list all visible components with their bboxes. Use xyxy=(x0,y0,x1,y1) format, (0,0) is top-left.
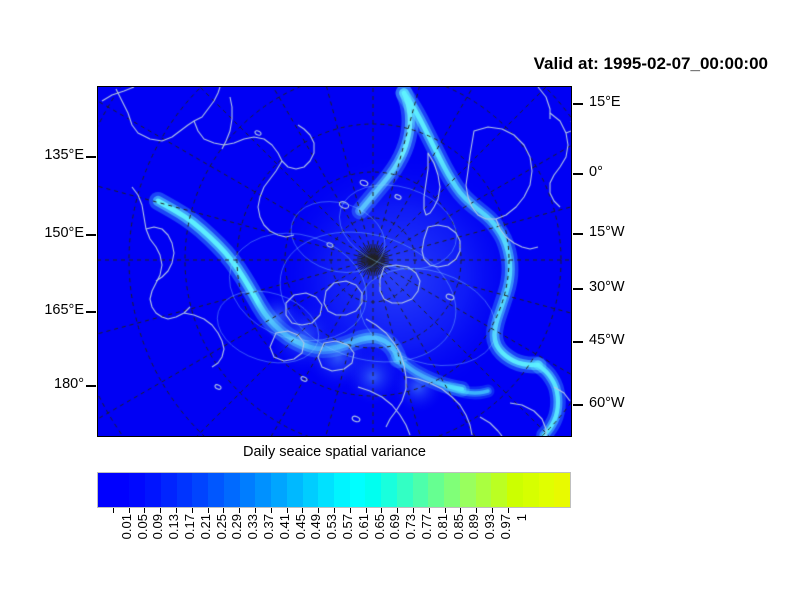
colorbar-swatch xyxy=(98,473,114,507)
colorbar-swatch xyxy=(539,473,555,507)
colorbar-swatch xyxy=(192,473,208,507)
axis-left-label: 150°E xyxy=(44,225,84,241)
colorbar-swatch xyxy=(303,473,319,507)
colorbar-swatch xyxy=(208,473,224,507)
colorbar-tick xyxy=(318,508,319,513)
colorbar-tick xyxy=(492,508,493,513)
colorbar-swatch xyxy=(554,473,570,507)
seaice-variance-map xyxy=(98,87,571,436)
colorbar-swatch xyxy=(145,473,161,507)
colorbar-tick-label: 0.37 xyxy=(261,514,276,539)
colorbar-tick-label: 0.25 xyxy=(214,514,229,539)
axis-right-label: 60°W xyxy=(589,395,625,411)
colorbar-caption: Daily seaice spatial variance xyxy=(97,444,572,460)
colorbar-tick-label: 0.93 xyxy=(482,514,497,539)
colorbar-tick xyxy=(334,508,335,513)
page-title: Valid at: 1995-02-07_00:00:00 xyxy=(0,54,768,74)
colorbar-tick-label: 0.17 xyxy=(182,514,197,539)
colorbar-tick-label: 0.33 xyxy=(245,514,260,539)
colorbar-tick-label: 0.61 xyxy=(356,514,371,539)
axis-left-tick xyxy=(86,156,96,158)
colorbar-tick-label: 0.01 xyxy=(119,514,134,539)
colorbar-swatch xyxy=(444,473,460,507)
colorbar-tick xyxy=(350,508,351,513)
colorbar-tick-label: 0.09 xyxy=(150,514,165,539)
colorbar-tick-label: 0.85 xyxy=(451,514,466,539)
colorbar-tick xyxy=(160,508,161,513)
colorbar-tick-label: 0.77 xyxy=(419,514,434,539)
colorbar-tick xyxy=(397,508,398,513)
colorbar-tick xyxy=(476,508,477,513)
colorbar-swatch xyxy=(428,473,444,507)
axis-right-label: 15°W xyxy=(589,224,625,240)
colorbar-swatch xyxy=(460,473,476,507)
colorbar-tick xyxy=(302,508,303,513)
axis-right-label: 15°E xyxy=(589,94,621,110)
colorbar-tick-label: 0.89 xyxy=(466,514,481,539)
colorbar-swatch xyxy=(177,473,193,507)
colorbar-swatch xyxy=(240,473,256,507)
colorbar-tick-label: 0.97 xyxy=(498,514,513,539)
colorbar-tick xyxy=(271,508,272,513)
colorbar-tick-label: 0.05 xyxy=(135,514,150,539)
colorbar-tick-label: 1 xyxy=(514,514,529,521)
colorbar-swatch xyxy=(413,473,429,507)
axis-right-tick xyxy=(573,103,583,105)
colorbar-tick xyxy=(129,508,130,513)
colorbar-tick-label: 0.49 xyxy=(308,514,323,539)
colorbar-tick-label: 0.65 xyxy=(372,514,387,539)
colorbar-swatch xyxy=(271,473,287,507)
colorbar-tick xyxy=(429,508,430,513)
colorbar-swatch xyxy=(350,473,366,507)
colorbar-swatch xyxy=(397,473,413,507)
axis-right-tick xyxy=(573,288,583,290)
colorbar-swatch xyxy=(161,473,177,507)
colorbar-tick xyxy=(239,508,240,513)
colorbar-tick xyxy=(208,508,209,513)
colorbar-tick xyxy=(255,508,256,513)
colorbar-swatch xyxy=(287,473,303,507)
colorbar-tick xyxy=(287,508,288,513)
map-plot-area[interactable] xyxy=(97,86,572,437)
axis-right-label: 45°W xyxy=(589,332,625,348)
colorbar-tick-label: 0.29 xyxy=(229,514,244,539)
colorbar-gradient xyxy=(97,472,571,508)
colorbar-tick xyxy=(460,508,461,513)
axis-right-tick xyxy=(573,173,583,175)
colorbar-tick xyxy=(223,508,224,513)
colorbar-tick xyxy=(381,508,382,513)
axis-right-tick xyxy=(573,341,583,343)
colorbar-tick-label: 0.13 xyxy=(166,514,181,539)
colorbar-tick-label: 0.53 xyxy=(324,514,339,539)
colorbar-tick-label: 0.69 xyxy=(387,514,402,539)
colorbar-swatch xyxy=(114,473,130,507)
colorbar-tick-labels: 0.010.050.090.130.170.210.250.290.330.37… xyxy=(97,514,571,574)
colorbar-tick xyxy=(413,508,414,513)
colorbar-swatch xyxy=(365,473,381,507)
axis-left-tick xyxy=(86,234,96,236)
colorbar-tick-label: 0.41 xyxy=(277,514,292,539)
colorbar-tick xyxy=(508,508,509,513)
colorbar-tick xyxy=(113,508,114,513)
axis-left-label: 135°E xyxy=(44,147,84,163)
axis-right-tick xyxy=(573,404,583,406)
colorbar-swatch xyxy=(318,473,334,507)
colorbar-swatch xyxy=(255,473,271,507)
colorbar-swatch xyxy=(507,473,523,507)
colorbar-swatch xyxy=(523,473,539,507)
colorbar-swatch xyxy=(476,473,492,507)
colorbar-tick-label: 0.45 xyxy=(293,514,308,539)
colorbar-tick xyxy=(192,508,193,513)
colorbar-swatch xyxy=(381,473,397,507)
axis-left-label: 180° xyxy=(54,376,84,392)
colorbar-tick xyxy=(366,508,367,513)
colorbar-swatch xyxy=(129,473,145,507)
colorbar-tick xyxy=(176,508,177,513)
axis-left-tick xyxy=(86,311,96,313)
axis-right-label: 0° xyxy=(589,164,603,180)
colorbar-tick-label: 0.57 xyxy=(340,514,355,539)
colorbar[interactable] xyxy=(97,472,571,508)
colorbar-tick xyxy=(144,508,145,513)
axis-right-tick xyxy=(573,233,583,235)
colorbar-swatch xyxy=(334,473,350,507)
colorbar-swatch xyxy=(224,473,240,507)
colorbar-tick xyxy=(445,508,446,513)
colorbar-tick-label: 0.81 xyxy=(435,514,450,539)
colorbar-swatch xyxy=(491,473,507,507)
colorbar-tick-label: 0.21 xyxy=(198,514,213,539)
axis-left-tick xyxy=(86,385,96,387)
axis-right-label: 30°W xyxy=(589,279,625,295)
axis-left-label: 165°E xyxy=(44,302,84,318)
colorbar-tick-label: 0.73 xyxy=(403,514,418,539)
